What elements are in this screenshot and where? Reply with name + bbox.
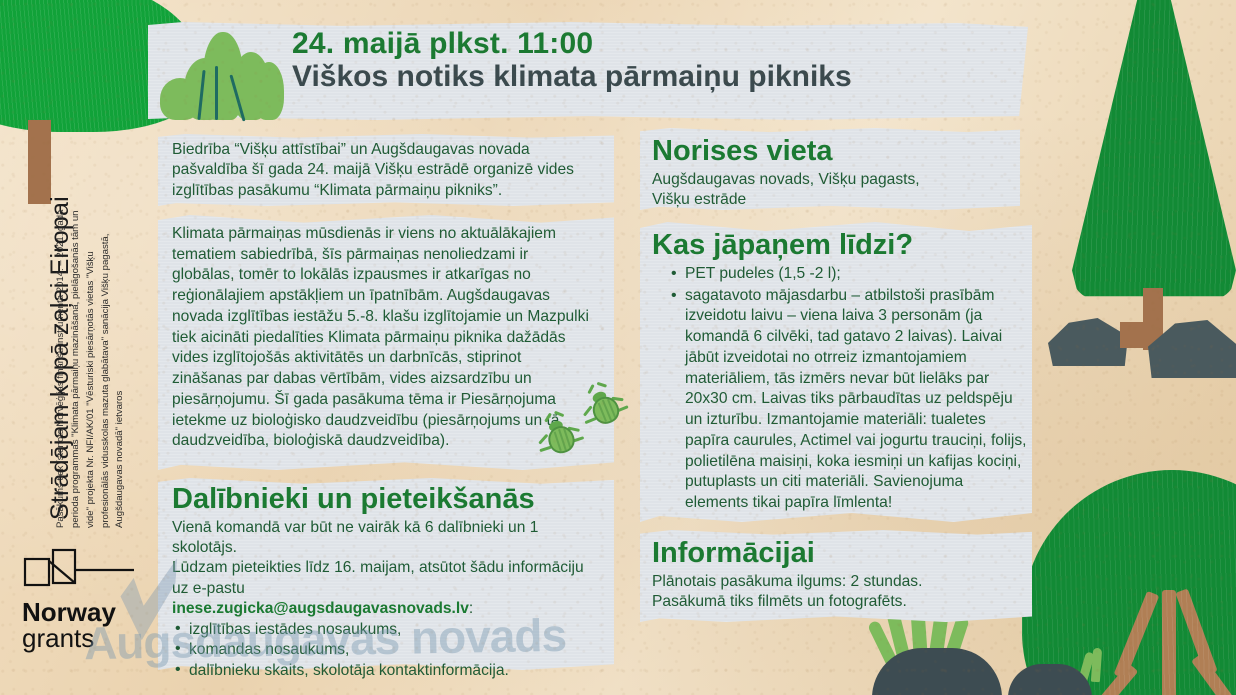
header-text: 24. maijā plkst. 11:00 Viškos notiks kli… — [292, 28, 1022, 93]
tree-left-trunk-icon — [28, 120, 51, 204]
bring-heading: Kas jāpaņem līdzi? — [652, 230, 1028, 262]
grass-blade-icon — [943, 615, 970, 663]
mound-icon — [872, 648, 1002, 695]
info-line-1: Plānotais pasākuma ilgums: 2 stundas. — [652, 572, 1026, 592]
rock-icon — [1148, 320, 1236, 378]
list-item: sagatavoto mājasdarbu – atbilstoši prasī… — [668, 286, 1028, 514]
grass-blade-icon — [1078, 651, 1095, 682]
participants-section: Dalībnieki un pieteikšanās Vienā komandā… — [172, 484, 602, 681]
location-section: Norises vieta Augšdaugavas novads, Višķu… — [652, 136, 1012, 210]
page-title: Viškos notiks klimata pārmaiņu pikniks — [292, 60, 1022, 94]
norway-grants-subtitle: grants — [22, 625, 142, 652]
participants-line-1: Vienā komandā var būt ne vairāk kā 6 dal… — [172, 518, 602, 559]
norway-grants-name: Norway — [22, 599, 142, 625]
rock-icon — [1048, 318, 1128, 366]
list-item: izglītības iestādes nosaukums, — [172, 620, 602, 640]
list-item: PET pudeles (1,5 -2 l); — [668, 264, 1028, 285]
participants-line-2: Lūdzam pieteikties līdz 16. maijam, atsū… — [172, 558, 602, 599]
list-item: dalībnieku skaits, skolotāja kontaktinfo… — [172, 661, 602, 681]
location-line-1: Augšdaugavas novads, Višķu pagasts, — [652, 170, 1012, 190]
location-line-2: Višķu estrāde — [652, 190, 1012, 210]
bring-section: Kas jāpaņem līdzi? PET pudeles (1,5 -2 l… — [652, 230, 1028, 514]
conifer-trunk-icon — [1143, 288, 1163, 350]
info-section: Informācijai Plānotais pasākuma ilgums: … — [652, 538, 1026, 612]
mound-icon — [1008, 664, 1092, 695]
bring-list: PET pudeles (1,5 -2 l); sagatavoto mājas… — [668, 264, 1028, 514]
intro-text: Biedrība “Višķu attīstībai” un Augšdauga… — [172, 140, 604, 201]
main-paragraph-text: Klimata pārmaiņas mūsdienās ir viens no … — [172, 224, 594, 452]
list-item: komandas nosaukums, — [172, 640, 602, 660]
norway-grants-mark-icon — [22, 548, 138, 594]
location-heading: Norises vieta — [652, 136, 1012, 168]
info-heading: Informācijai — [652, 538, 1026, 570]
norway-grants-logo: Norway grants — [22, 548, 142, 652]
email-link[interactable]: inese.zugicka@augsdaugavasnovads.lv — [172, 600, 469, 617]
round-tree-icon — [1022, 470, 1236, 695]
grass-blade-icon — [1091, 648, 1102, 683]
participants-list: izglītības iestādes nosaukums, komandas … — [172, 620, 602, 681]
info-line-2: Pasākumā tiks filmēts un fotografēts. — [652, 592, 1026, 612]
participants-email-line: inese.zugicka@augsdaugavasnovads.lv: — [172, 599, 602, 619]
stump-icon — [1120, 322, 1146, 348]
grass-blade-icon — [867, 620, 897, 665]
email-colon: : — [469, 600, 473, 617]
poster-canvas: 24. maijā plkst. 11:00 Viškos notiks kli… — [0, 0, 1236, 695]
sidebar-funding-note: Pasākums tiek īstenots Norvēģijas finanš… — [54, 206, 128, 528]
participants-heading: Dalībnieki un pieteikšanās — [172, 484, 602, 516]
conifer-tree-icon — [1072, 0, 1236, 300]
event-date: 24. maijā plkst. 11:00 — [292, 28, 1022, 60]
